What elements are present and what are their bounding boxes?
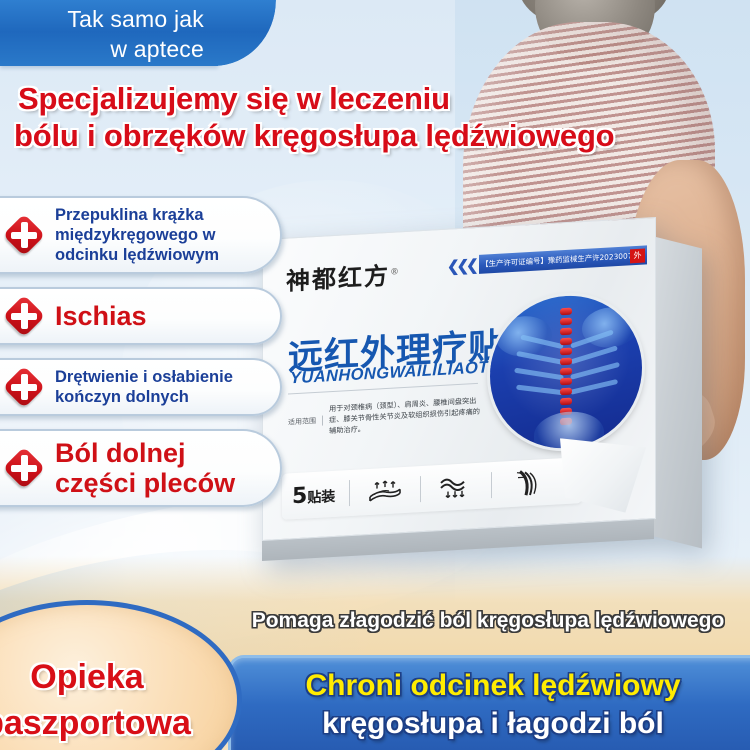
- license-label: 【生产许可证编号】: [481, 256, 548, 269]
- headline-line-2: bólu i obrzęków kręgosłupa lędźwiowego: [14, 117, 740, 154]
- list-item: Przepuklina krążka międzykręgowego w odc…: [0, 196, 282, 274]
- pack-count: 5贴装: [292, 481, 335, 508]
- panel-line-1: Chroni odcinek lędźwiowy: [231, 668, 750, 704]
- list-item: Drętwienie i osłabienie kończyn dolnych: [0, 358, 282, 416]
- package-side-panel: [650, 236, 702, 549]
- pack-count-number: 5: [292, 483, 307, 509]
- license-fill: 【生产许可证编号】豫药监械生产许20230078号 外: [479, 245, 647, 273]
- product-package: 神都红方® ❮❮❮ 【生产许可证编号】豫药监械生产许20230078号 外 远红…: [262, 228, 702, 558]
- list-item: Ból dolnej części pleców: [0, 429, 282, 507]
- ribbon-line-2: w aptece: [16, 34, 204, 64]
- flexible-joint-icon: [506, 467, 548, 499]
- heat-wave-icon: [435, 471, 477, 503]
- breathable-patch-icon: [364, 475, 406, 507]
- peeling-patch-graphic: [560, 433, 646, 516]
- advertisement-poster: Tak samo jak w aptece Specjalizujemy się…: [0, 0, 750, 750]
- scope-label: 适用范围: [288, 415, 323, 427]
- external-use-badge: 外: [630, 248, 645, 263]
- list-item-label: Przepuklina krążka międzykręgowego w odc…: [55, 205, 264, 265]
- panel-line-2: kręgosłupa i łagodzi ból: [231, 706, 750, 742]
- scope-text: 用于对颈椎病（颈型）、肩周炎、腰椎间盘突出症、膝关节骨性关节炎及软组织损伤引起疼…: [323, 395, 483, 437]
- pack-count-unit: 贴装: [307, 488, 335, 506]
- badge-line-2: paszportowa: [0, 700, 191, 746]
- list-item: Ischias: [0, 287, 282, 345]
- divider: [491, 472, 492, 498]
- chevron-left-icon: ❮❮❮: [447, 256, 476, 276]
- headline-line-1: Specjalizujemy się w leczeniu: [14, 80, 740, 117]
- symptom-list: Przepuklina krążka międzykręgowego w odc…: [0, 196, 282, 520]
- scope-section: 适用范围 用于对颈椎病（颈型）、肩周炎、腰椎间盘突出症、膝关节骨性关节炎及软组织…: [288, 395, 483, 439]
- list-item-label: Ból dolnej części pleców: [55, 438, 264, 498]
- page-title: Specjalizujemy się w leczeniu bólu i obr…: [14, 80, 740, 154]
- license-bar: ❮❮❮ 【生产许可证编号】豫药监械生产许20230078号 外: [447, 245, 647, 275]
- trademark-symbol: ®: [390, 267, 401, 278]
- divider: [349, 480, 350, 506]
- badge-line-1: Opieka: [30, 654, 143, 700]
- medical-cross-icon: [4, 215, 44, 255]
- list-item-label: Drętwienie i osłabienie kończyn dolnych: [55, 367, 264, 407]
- bottom-blue-panel: Chroni odcinek lędźwiowy kręgosłupa i ła…: [228, 655, 750, 750]
- medical-cross-icon: [4, 448, 44, 488]
- pharmacy-ribbon-text: Tak samo jak w aptece: [0, 0, 218, 64]
- ribbon-line-1: Tak samo jak: [16, 4, 204, 34]
- benefit-text: Pomaga złagodzić ból kręgosłupa lędźwiow…: [232, 608, 744, 634]
- pharmacy-ribbon: Tak samo jak w aptece: [0, 0, 218, 66]
- medical-cross-icon: [4, 367, 44, 407]
- brand-logo: 神都红方®: [286, 255, 401, 296]
- spine-illustration: [490, 292, 642, 452]
- license-text: 【生产许可证编号】豫药监械生产许20230078号: [481, 250, 644, 270]
- feature-strip: 5贴装: [282, 457, 582, 520]
- list-item-label: Ischias: [55, 301, 147, 331]
- divider: [420, 476, 421, 502]
- brand-name: 神都红方: [286, 262, 390, 296]
- medical-cross-icon: [4, 296, 44, 336]
- package-front-content: 神都红方® ❮❮❮ 【生产许可证编号】豫药监械生产许20230078号 外 远红…: [262, 217, 654, 539]
